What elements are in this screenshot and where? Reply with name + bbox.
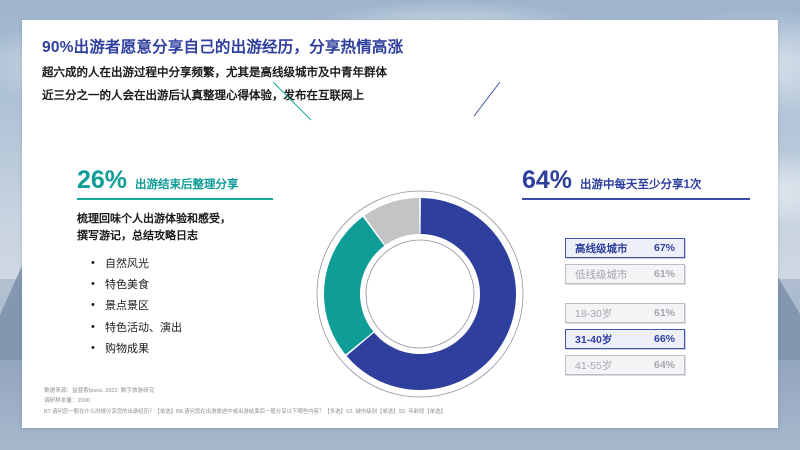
stat-box-age-18-30: 18-30岁 61% bbox=[565, 303, 685, 323]
footer-sample-size: 调研样本量：2000 bbox=[44, 396, 446, 406]
donut-inner-ring bbox=[366, 240, 474, 348]
stat-value: 67% bbox=[654, 242, 675, 254]
footer-notes: 数据来源：益普索Ipsos. 2022. 数字旅游研究 调研样本量：2000 B… bbox=[44, 386, 446, 417]
content-card: 90%出游者愿意分享自己的出游经历，分享热情高涨 超六成的人在出游过程中分享频繁… bbox=[22, 20, 778, 428]
footer-questions: B7.请问您一般在什么时候分享您的出游经历？【单选】B8.请问您在出游旅途中或出… bbox=[44, 407, 446, 417]
right-percent-label: 出游中每天至少分享1次 bbox=[580, 176, 701, 192]
stat-value: 61% bbox=[654, 307, 675, 319]
stat-label: 高线级城市 bbox=[575, 241, 628, 256]
donut-chart bbox=[314, 188, 526, 400]
left-description-line-2: 撰写游记，总结攻略日志 bbox=[77, 228, 307, 245]
list-item: 购物成果 bbox=[77, 339, 307, 360]
footer-source: 数据来源：益普索Ipsos. 2022. 数字旅游研究 bbox=[44, 386, 446, 396]
stat-value: 66% bbox=[654, 333, 675, 345]
stat-box-city-high: 高线级城市 67% bbox=[565, 238, 685, 258]
page-title: 90%出游者愿意分享自己的出游经历，分享热情高涨 bbox=[42, 35, 403, 57]
stat-box-age-41-55: 41-55岁 64% bbox=[565, 355, 685, 375]
subtitle-line-2: 近三分之一的人会在出游后认真整理心得体验，发布在互联网上 bbox=[42, 87, 364, 103]
city-stat-group: 高线级城市 67% 低线级城市 61% bbox=[565, 238, 685, 290]
stat-value: 61% bbox=[654, 268, 675, 280]
left-percent-value: 26% bbox=[77, 168, 127, 193]
list-item: 景点景区 bbox=[77, 296, 307, 317]
list-item: 特色活动、演出 bbox=[77, 318, 307, 339]
left-description-line-1: 梳理回味个人出游体验和感受， bbox=[77, 211, 307, 228]
left-percent-label: 出游结束后整理分享 bbox=[135, 176, 239, 192]
stat-label: 31-40岁 bbox=[575, 332, 612, 347]
slide-root: 90%出游者愿意分享自己的出游经历，分享热情高涨 超六成的人在出游过程中分享频繁… bbox=[0, 0, 800, 450]
donut-slice bbox=[324, 217, 384, 355]
left-callout-heading: 26% 出游结束后整理分享 bbox=[77, 168, 307, 193]
left-callout-rule bbox=[77, 198, 273, 200]
list-item: 自然风光 bbox=[77, 254, 307, 275]
right-callout: 64% 出游中每天至少分享1次 bbox=[522, 168, 757, 200]
stat-label: 18-30岁 bbox=[575, 306, 612, 321]
stat-box-city-low: 低线级城市 61% bbox=[565, 264, 685, 284]
stat-value: 64% bbox=[654, 359, 675, 371]
list-item: 特色美食 bbox=[77, 275, 307, 296]
right-percent-value: 64% bbox=[522, 168, 572, 193]
right-callout-heading: 64% 出游中每天至少分享1次 bbox=[522, 168, 757, 193]
donut-slice bbox=[347, 198, 516, 390]
stat-label: 41-55岁 bbox=[575, 358, 612, 373]
left-bullet-list: 自然风光 特色美食 景点景区 特色活动、演出 购物成果 bbox=[77, 254, 307, 361]
donut-slice-group bbox=[324, 198, 516, 390]
donut-chart-svg bbox=[314, 188, 526, 400]
stat-label: 低线级城市 bbox=[575, 267, 628, 282]
left-callout: 26% 出游结束后整理分享 梳理回味个人出游体验和感受， 撰写游记，总结攻略日志… bbox=[77, 168, 307, 361]
right-connector-line bbox=[474, 82, 500, 116]
right-callout-rule bbox=[522, 198, 750, 200]
age-stat-group: 18-30岁 61% 31-40岁 66% 41-55岁 64% bbox=[565, 303, 685, 381]
left-description: 梳理回味个人出游体验和感受， 撰写游记，总结攻略日志 bbox=[77, 211, 307, 245]
stat-box-age-31-40: 31-40岁 66% bbox=[565, 329, 685, 349]
subtitle-line-1: 超六成的人在出游过程中分享频繁，尤其是高线级城市及中青年群体 bbox=[42, 64, 387, 80]
